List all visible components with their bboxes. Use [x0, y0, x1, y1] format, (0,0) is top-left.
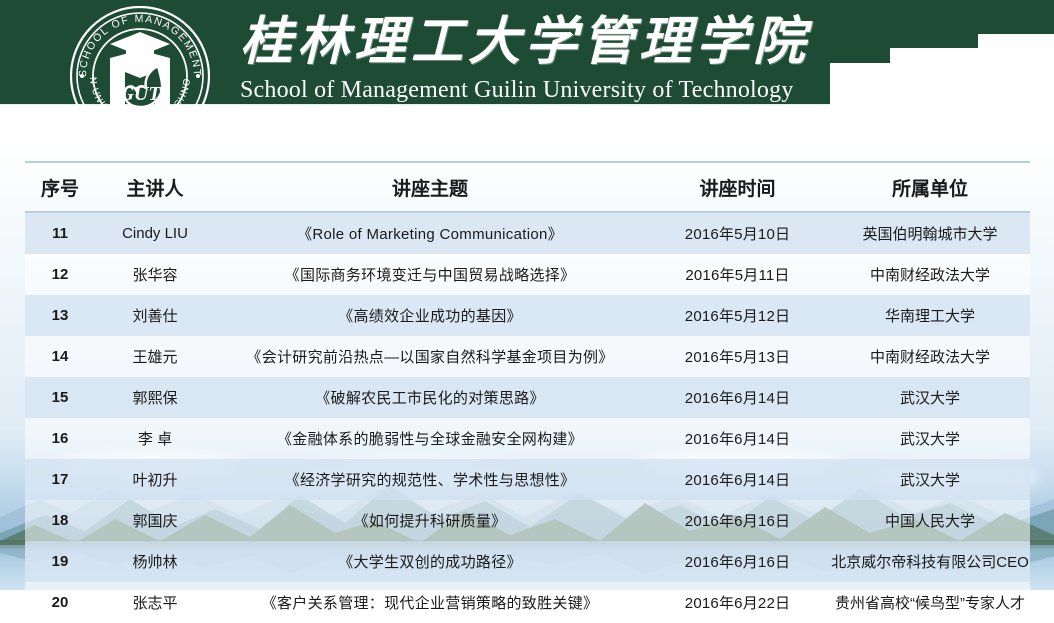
header-title-block: 桂林理工大学管理学院 School of Management Guilin U… [240, 14, 810, 105]
column-header-num: 序号 [25, 162, 95, 212]
cell-date: 2016年6月14日 [645, 418, 830, 459]
column-header-org: 所属单位 [830, 162, 1030, 212]
table-row: 15郭熙保《破解农民工市民化的对策思路》2016年6月14日武汉大学 [25, 377, 1030, 418]
cell-date: 2016年6月16日 [645, 500, 830, 541]
cell-name: 叶初升 [95, 459, 215, 500]
seal-year-text: 1985 [123, 120, 157, 136]
title-chinese: 桂林理工大学管理学院 [240, 14, 810, 72]
cell-org: 贵州省高校“候鸟型”专家人才 [830, 582, 1030, 623]
cell-date: 2016年5月11日 [645, 254, 830, 295]
cell-topic: 《金融体系的脆弱性与全球金融安全网构建》 [215, 418, 645, 459]
cell-topic: 《Role of Marketing Communication》 [215, 212, 645, 254]
cell-org: 武汉大学 [830, 418, 1030, 459]
cell-num: 12 [25, 254, 95, 295]
cell-name: 郭国庆 [95, 500, 215, 541]
cell-org: 中南财经政法大学 [830, 336, 1030, 377]
cell-name: 李 卓 [95, 418, 215, 459]
cell-name: Cindy LIU [95, 212, 215, 254]
cell-org: 英国伯明翰城市大学 [830, 212, 1030, 254]
column-header-date: 讲座时间 [645, 162, 830, 212]
cell-date: 2016年5月13日 [645, 336, 830, 377]
table-body: 11Cindy LIU《Role of Marketing Communicat… [25, 212, 1030, 623]
cell-num: 17 [25, 459, 95, 500]
cell-topic: 《高绩效企业成功的基因》 [215, 295, 645, 336]
table-header-row: 序号 主讲人 讲座主题 讲座时间 所属单位 [25, 162, 1030, 212]
cell-org: 中国人民大学 [830, 500, 1030, 541]
cell-name: 杨帅林 [95, 541, 215, 582]
lecture-schedule-table-wrapper: 序号 主讲人 讲座主题 讲座时间 所属单位 11Cindy LIU《Role o… [25, 161, 1030, 623]
column-header-name: 主讲人 [95, 162, 215, 212]
cell-num: 15 [25, 377, 95, 418]
cell-org: 北京威尔帝科技有限公司CEO [830, 541, 1030, 582]
cell-topic: 《会计研究前沿热点—以国家自然科学基金项目为例》 [215, 336, 645, 377]
cell-date: 2016年6月22日 [645, 582, 830, 623]
cell-topic: 《国际商务环境变迁与中国贸易战略选择》 [215, 254, 645, 295]
cell-name: 张华容 [95, 254, 215, 295]
table-row: 19杨帅林《大学生双创的成功路径》2016年6月16日北京威尔帝科技有限公司CE… [25, 541, 1030, 582]
title-english: School of Management Guilin University o… [240, 75, 810, 105]
cell-date: 2016年6月16日 [645, 541, 830, 582]
table-row: 16李 卓《金融体系的脆弱性与全球金融安全网构建》2016年6月14日武汉大学 [25, 418, 1030, 459]
cell-name: 郭熙保 [95, 377, 215, 418]
cell-num: 20 [25, 582, 95, 623]
table-row: 14王雄元《会计研究前沿热点—以国家自然科学基金项目为例》2016年5月13日中… [25, 336, 1030, 377]
cell-name: 刘善仕 [95, 295, 215, 336]
table-row: 13刘善仕《高绩效企业成功的基因》2016年5月12日华南理工大学 [25, 295, 1030, 336]
seal-monogram-text: GUT [119, 83, 161, 105]
table-row: 12张华容《国际商务环境变迁与中国贸易战略选择》2016年5月11日中南财经政法… [25, 254, 1030, 295]
lecture-schedule-table: 序号 主讲人 讲座主题 讲座时间 所属单位 11Cindy LIU《Role o… [25, 161, 1030, 623]
cell-num: 18 [25, 500, 95, 541]
cell-org: 华南理工大学 [830, 295, 1030, 336]
cell-date: 2016年5月12日 [645, 295, 830, 336]
table-row: 17叶初升《经济学研究的规范性、学术性与思想性》2016年6月14日武汉大学 [25, 459, 1030, 500]
cell-date: 2016年6月14日 [645, 377, 830, 418]
cell-org: 武汉大学 [830, 459, 1030, 500]
cell-num: 13 [25, 295, 95, 336]
table-row: 11Cindy LIU《Role of Marketing Communicat… [25, 212, 1030, 254]
cell-name: 张志平 [95, 582, 215, 623]
cell-num: 16 [25, 418, 95, 459]
table-row: 18郭国庆《如何提升科研质量》2016年6月16日中国人民大学 [25, 500, 1030, 541]
cell-topic: 《如何提升科研质量》 [215, 500, 645, 541]
column-header-topic: 讲座主题 [215, 162, 645, 212]
cell-topic: 《经济学研究的规范性、学术性与思想性》 [215, 459, 645, 500]
cell-date: 2016年5月10日 [645, 212, 830, 254]
cell-topic: 《客户关系管理：现代企业营销策略的致胜关键》 [215, 582, 645, 623]
cell-org: 中南财经政法大学 [830, 254, 1030, 295]
cell-num: 14 [25, 336, 95, 377]
cell-org: 武汉大学 [830, 377, 1030, 418]
university-seal-logo: SCHOOL OF MANAGEMENT GUILIN UNIVERSITY O… [70, 6, 210, 146]
cell-date: 2016年6月14日 [645, 459, 830, 500]
cell-num: 19 [25, 541, 95, 582]
cell-topic: 《大学生双创的成功路径》 [215, 541, 645, 582]
table-head: 序号 主讲人 讲座主题 讲座时间 所属单位 [25, 162, 1030, 212]
cell-topic: 《破解农民工市民化的对策思路》 [215, 377, 645, 418]
cell-name: 王雄元 [95, 336, 215, 377]
cell-num: 11 [25, 212, 95, 254]
table-row: 20张志平《客户关系管理：现代企业营销策略的致胜关键》2016年6月22日贵州省… [25, 582, 1030, 623]
